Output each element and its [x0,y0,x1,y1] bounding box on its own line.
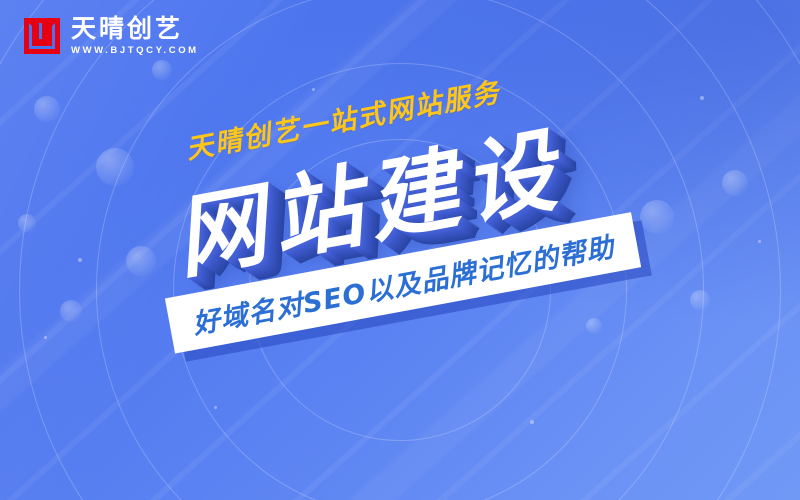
promo-banner: 天晴创艺 WWW.BJTQCY.COM 天晴创艺一站式网站服务 网站建设 好域名… [0,0,800,500]
logo-brand-name: 天晴创艺 [71,16,199,41]
hero-text-group: 天晴创艺一站式网站服务 网站建设 好域名对SEO以及品牌记忆的帮助 [0,0,800,500]
logo-text-group: 天晴创艺 WWW.BJTQCY.COM [71,16,199,56]
brand-logo[interactable]: 天晴创艺 WWW.BJTQCY.COM [24,16,199,56]
logo-website-url: WWW.BJTQCY.COM [71,46,199,56]
logo-mark-icon [24,18,60,54]
